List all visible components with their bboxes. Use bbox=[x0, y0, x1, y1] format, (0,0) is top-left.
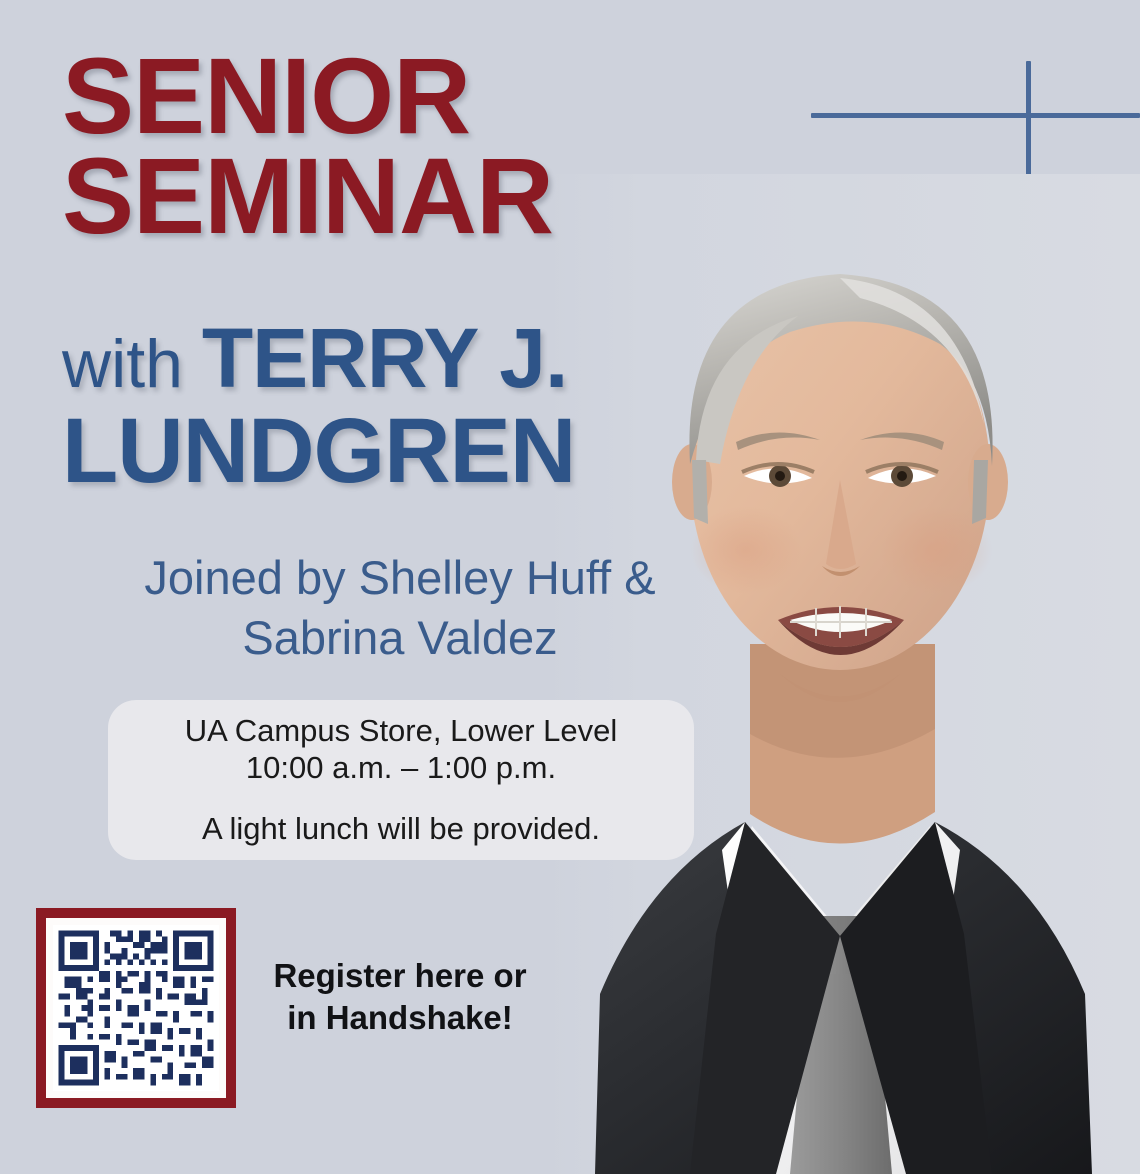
with-label: with bbox=[62, 326, 202, 402]
speaker-name-row-1: with TERRY J. bbox=[62, 318, 575, 399]
register-callout: Register here or in Handshake! bbox=[250, 955, 550, 1039]
headline-line-1: SENIOR bbox=[62, 46, 553, 146]
portrait-photo bbox=[540, 174, 1140, 1174]
co-speakers-line-2: Sabrina Valdez bbox=[60, 608, 740, 668]
co-speakers: Joined by Shelley Huff & Sabrina Valdez bbox=[60, 548, 740, 668]
co-speakers-line-1: Joined by Shelley Huff & bbox=[60, 548, 740, 608]
qr-code-icon bbox=[53, 925, 219, 1091]
speaker-last-name: LUNDGREN bbox=[62, 405, 575, 497]
qr-code-inner[interactable] bbox=[46, 918, 226, 1098]
event-location: UA Campus Store, Lower Level bbox=[185, 713, 618, 750]
register-line-1: Register here or bbox=[250, 955, 550, 997]
event-lunch-note: A light lunch will be provided. bbox=[202, 811, 600, 847]
speaker-first-name: TERRY J. bbox=[202, 311, 567, 405]
event-time: 10:00 a.m. – 1:00 p.m. bbox=[246, 750, 556, 787]
poster-canvas: SENIOR SEMINAR with TERRY J. LUNDGREN Jo… bbox=[0, 0, 1140, 1174]
headline-line-2: SEMINAR bbox=[62, 146, 553, 246]
decor-horizontal-rule bbox=[811, 113, 1140, 118]
headline: SENIOR SEMINAR bbox=[62, 46, 553, 247]
qr-code-frame[interactable] bbox=[36, 908, 236, 1108]
speaker-name: with TERRY J. LUNDGREN bbox=[62, 318, 575, 497]
register-line-2: in Handshake! bbox=[250, 997, 550, 1039]
event-details-card: UA Campus Store, Lower Level 10:00 a.m. … bbox=[108, 700, 694, 860]
